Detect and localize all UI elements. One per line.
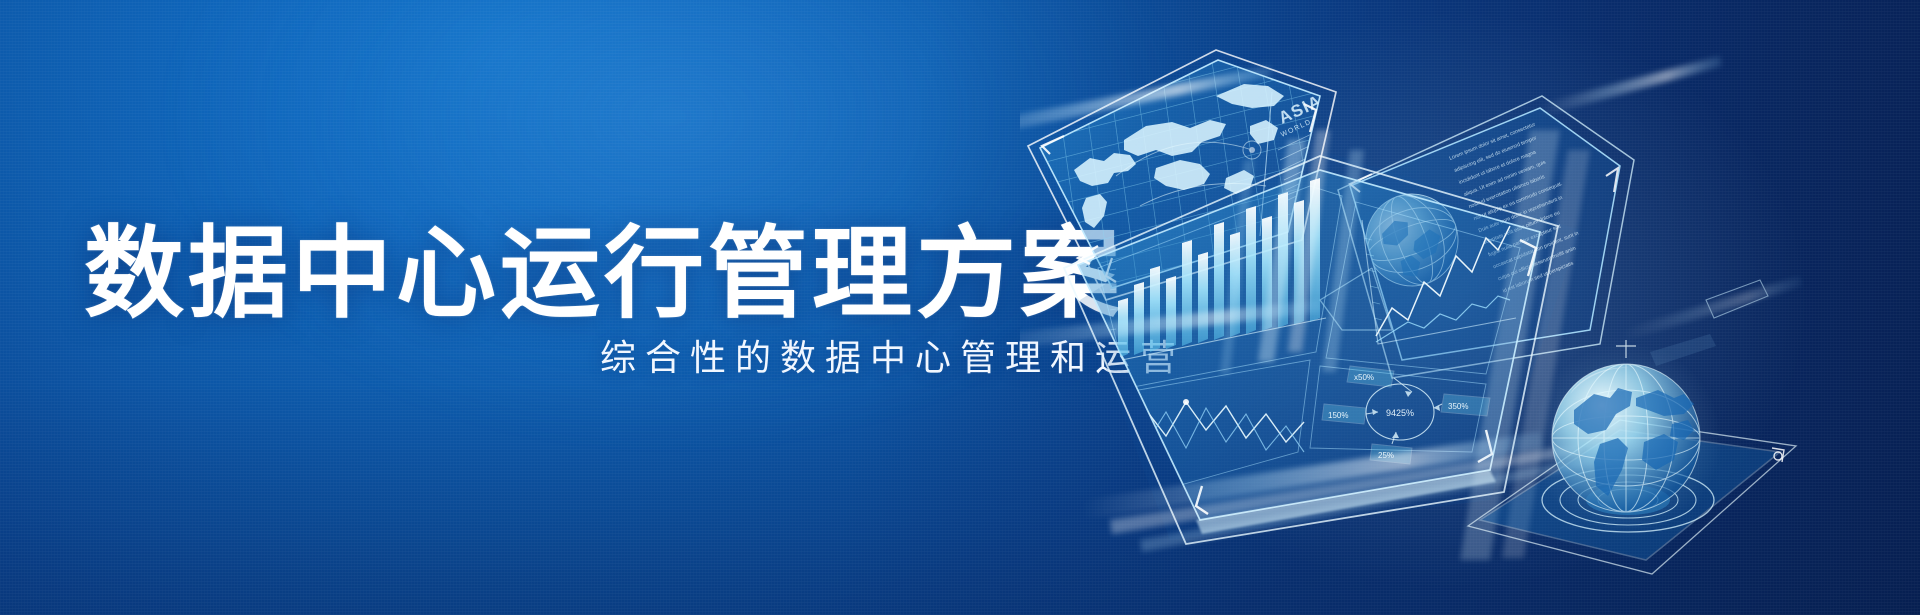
hero-banner: 数据中心运行管理方案 综合性的数据中心管理和运营 — [0, 0, 1920, 615]
page-subtitle: 综合性的数据中心管理和运营 — [600, 333, 1185, 383]
headline-block: 数据中心运行管理方案 综合性的数据中心管理和运营 — [0, 0, 1120, 615]
page-title: 数据中心运行管理方案 — [84, 222, 1124, 326]
